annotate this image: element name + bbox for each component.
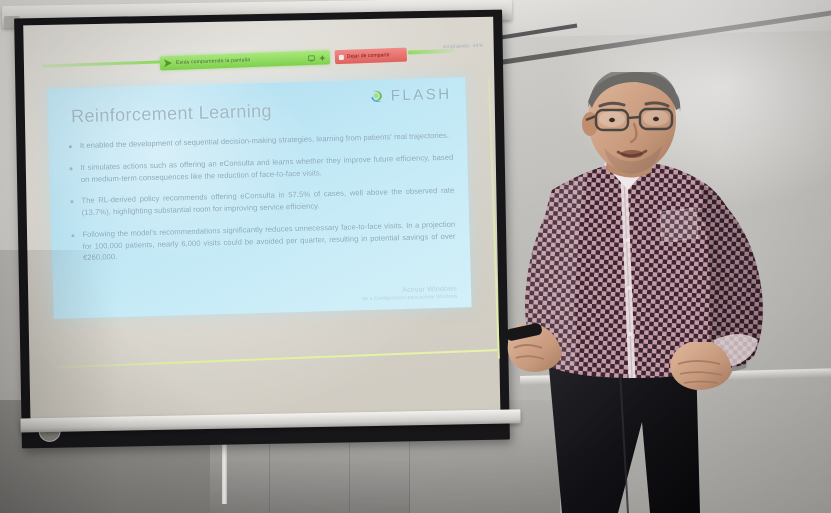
projector-edge-line [58,349,498,368]
sharing-status-pill[interactable]: Estás compartiendo la pantalla [160,50,330,70]
sharing-status-label: Estás compartiendo la pantalla [176,55,304,66]
bullet-text: It simulates actions such as offering an… [80,151,454,185]
watermark-subtitle: Ve a Configuración para activar Windows [362,294,457,303]
list-item: It enabled the development of sequential… [69,130,453,152]
flash-logo: FLASH [369,86,452,105]
bullet-dot-icon [69,167,72,170]
presentation-slide: Reinforcement Learning FLASH It [47,77,471,319]
monitor-icon[interactable] [308,54,315,61]
screenshot-root: Estás compartiendo la pantalla Dejar de … [0,0,831,513]
cursor-arrow-icon [164,59,172,67]
screen-surface: Estás compartiendo la pantalla Dejar de … [23,17,500,427]
projection-screen: Estás compartiendo la pantalla Dejar de … [14,10,510,449]
stop-square-icon [339,54,344,59]
list-item: Following the model's recommendations si… [71,218,456,264]
flash-leaf-logo-icon [369,87,386,104]
bullet-text: It enabled the development of sequential… [80,130,453,152]
pin-icon[interactable] [319,54,326,61]
list-item: The RL-derived policy recommends offerin… [70,185,455,219]
stop-sharing-button[interactable]: Dejar de compartir [335,48,407,65]
bullet-dot-icon [70,201,73,204]
windows-activation-watermark: Activar Windows Ve a Configuración para … [362,286,458,303]
presenter [500,72,831,513]
stop-sharing-label: Dejar de compartir [347,52,390,60]
watermark-title: Activar Windows [362,286,458,296]
slide-bullet-list: It enabled the development of sequential… [69,130,456,265]
bullet-dot-icon [71,234,74,237]
cabinet-handle[interactable] [222,438,227,504]
bullet-dot-icon [69,145,72,148]
slide-title: Reinforcement Learning [71,101,272,128]
screen-share-toolbar[interactable]: Estás compartiendo la pantalla Dejar de … [142,42,473,74]
list-item: It simulates actions such as offering an… [69,151,454,185]
flash-logo-text: FLASH [391,86,452,105]
bullet-text: The RL-derived policy recommends offerin… [81,185,455,219]
bullet-text: Following the model's recommendations si… [82,218,456,264]
share-bar-extension [42,60,164,67]
